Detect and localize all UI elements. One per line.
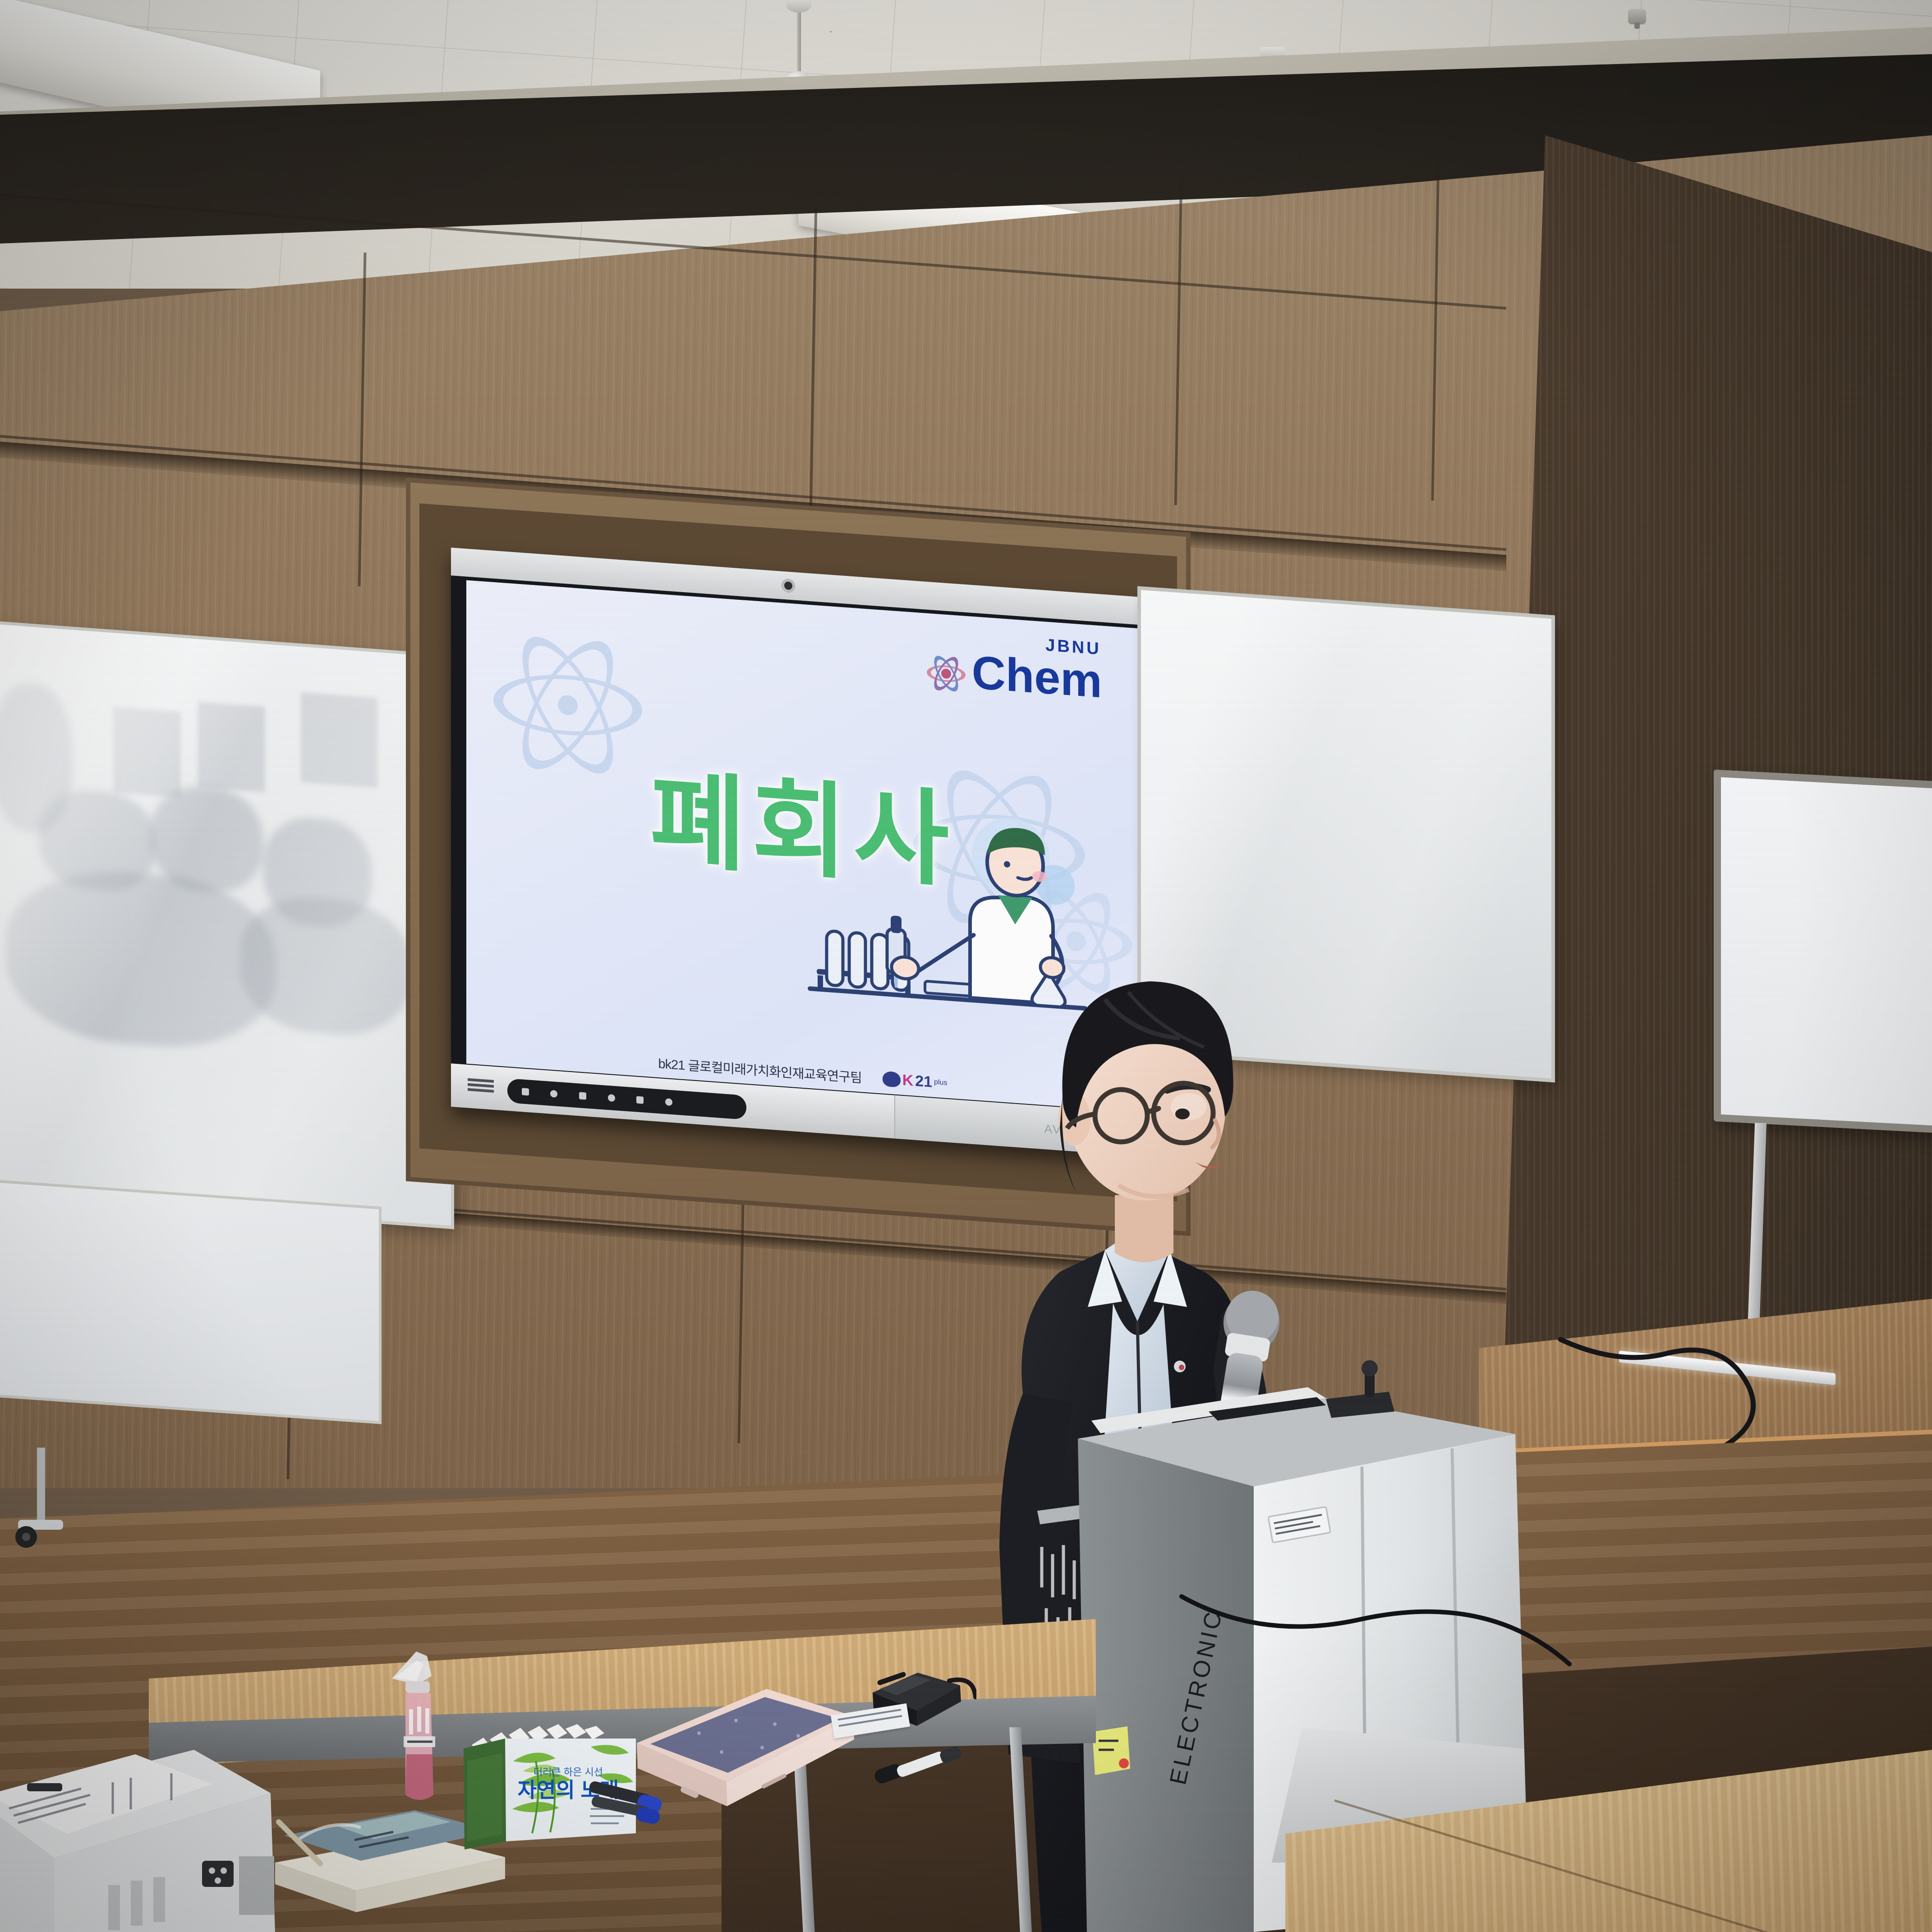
left-glass-panel[interactable] [0, 623, 451, 1226]
display-logo-icon [468, 1078, 494, 1100]
camera-icon [782, 579, 795, 593]
spray-bottle [386, 1646, 453, 1817]
mobile-whiteboard[interactable] [1714, 769, 1932, 1133]
pc-tower [0, 1750, 284, 1932]
tablet[interactable] [631, 1675, 857, 1815]
left-lower-panel [0, 1181, 379, 1421]
track-spotlight-1 [785, 0, 813, 86]
bk21-number: 21 [915, 1072, 932, 1091]
cart-leg [14, 1448, 68, 1556]
jbnu-chem-logo: JBNU Chem [927, 647, 1102, 704]
marker-pen [868, 1743, 972, 1793]
bk21-prefix: K [902, 1071, 914, 1090]
atom-icon [927, 653, 966, 695]
logo-brand: Chem [972, 650, 1102, 704]
photo-canvas: JBNU Chem 폐회사 [0, 0, 1932, 1932]
logo-institution: JBNU [1045, 636, 1101, 659]
sprinkler-head [1628, 9, 1646, 24]
microphone-cable [1173, 1578, 1578, 1759]
bk21-blob-icon [883, 1071, 901, 1088]
bk21-badge: K 21 plus [883, 1070, 948, 1092]
bk21-suffix: plus [934, 1078, 947, 1087]
